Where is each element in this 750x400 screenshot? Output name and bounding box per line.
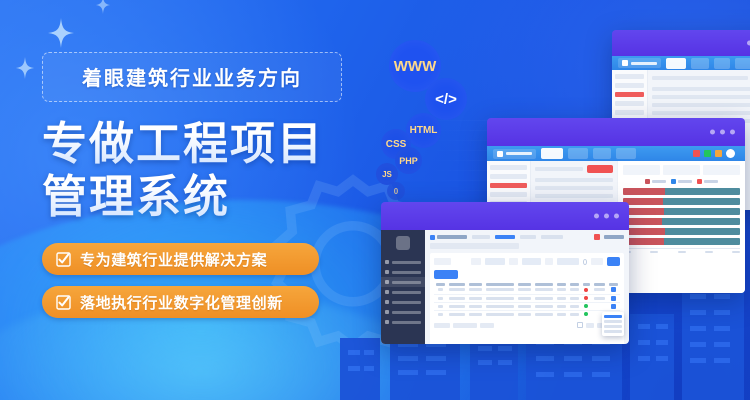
feature-badge-list: 专为建筑行业提供解决方案 落地执行行业数字化管理创新 <box>42 243 342 318</box>
table-row <box>652 87 750 91</box>
cell-checkbox <box>438 288 443 291</box>
table-row <box>652 111 750 115</box>
kpi-row <box>623 165 740 175</box>
header-actions <box>693 149 739 158</box>
search-field[interactable] <box>535 167 583 171</box>
bell-icon[interactable] <box>715 150 722 157</box>
table-row <box>535 186 613 190</box>
filter-label-4 <box>545 258 553 265</box>
filter-label-5 <box>591 258 603 265</box>
bubble-code: </> <box>425 78 467 120</box>
chart-axis-ticks <box>623 251 740 253</box>
kpi-card <box>703 165 740 175</box>
stacked-bar-chart <box>623 188 740 253</box>
page-number[interactable] <box>586 323 594 328</box>
search-field[interactable] <box>652 76 748 80</box>
row-action-icon[interactable] <box>611 287 616 292</box>
filter-select-2[interactable] <box>522 258 541 265</box>
sparkle-icon <box>48 18 74 48</box>
headline-line-2: 管理系统 <box>42 171 342 224</box>
add-button[interactable] <box>434 270 458 279</box>
sidebar <box>381 230 425 344</box>
subtitle-text: 着眼建筑行业业务方向 <box>57 62 327 91</box>
avatar[interactable] <box>726 149 735 158</box>
feature-badge-1-label: 专为建筑行业提供解决方案 <box>80 249 267 270</box>
tab-2[interactable] <box>568 148 588 159</box>
tab-1[interactable] <box>666 58 686 69</box>
app-logo <box>493 149 536 159</box>
app-body <box>381 230 629 344</box>
bubble-html: HTML <box>406 113 441 148</box>
menu-item-2 <box>604 320 622 323</box>
status-badge <box>584 288 588 292</box>
app-window-front[interactable] <box>381 202 629 344</box>
status-badge <box>584 296 588 300</box>
marketing-banner: 着眼建筑行业业务方向 专做工程项目 管理系统 专为建筑行业提供解决方案 <box>0 0 750 400</box>
window-dots <box>710 130 735 135</box>
filter-label-2 <box>471 258 481 265</box>
menu-item-4 <box>604 330 622 333</box>
menu-item-3 <box>604 325 622 328</box>
sidebar-item-4[interactable] <box>381 287 425 297</box>
chart-axis <box>623 248 740 249</box>
page-header <box>430 235 467 240</box>
page-prev-button[interactable] <box>577 322 583 328</box>
checkbox-check-icon <box>56 252 71 267</box>
legend-item <box>671 179 692 184</box>
data-table <box>434 283 620 318</box>
chart-bar <box>623 208 740 215</box>
list-item-active[interactable] <box>615 92 644 97</box>
app-header <box>487 146 745 161</box>
primary-button[interactable] <box>587 165 613 173</box>
legend-item <box>645 179 666 184</box>
feature-badge-1[interactable]: 专为建筑行业提供解决方案 <box>42 243 319 275</box>
user-menu[interactable] <box>604 235 624 239</box>
tab-1[interactable] <box>541 148 563 159</box>
tab-4[interactable] <box>616 148 636 159</box>
chart-bar <box>623 218 740 225</box>
page-info <box>480 323 494 328</box>
list-item[interactable] <box>615 101 644 106</box>
filter-select-1[interactable] <box>485 258 504 265</box>
page-title <box>437 235 467 239</box>
app-logo <box>618 58 661 68</box>
list-item[interactable] <box>615 74 644 79</box>
page-icon <box>430 235 435 240</box>
cell-checkbox <box>438 305 443 308</box>
search-button[interactable] <box>607 257 620 266</box>
sidebar-item-6[interactable] <box>381 307 425 317</box>
tab-3[interactable] <box>593 148 611 159</box>
sidebar-item-7[interactable] <box>381 317 425 327</box>
tab-3[interactable] <box>714 58 730 69</box>
app-logo-icon <box>396 236 410 250</box>
legend-item <box>697 179 718 184</box>
table-row <box>652 95 750 99</box>
page-size-select[interactable] <box>453 323 477 328</box>
filter-bar <box>434 257 620 266</box>
nav-link-3[interactable] <box>520 235 536 239</box>
headline-block: 着眼建筑行业业务方向 专做工程项目 管理系统 专为建筑行业提供解决方案 <box>42 52 342 329</box>
subtitle-box: 着眼建筑行业业务方向 <box>42 52 342 102</box>
status-badge <box>584 304 588 308</box>
list-item[interactable] <box>490 165 527 170</box>
sidebar-item-3-active[interactable] <box>381 277 425 287</box>
window-titlebar <box>612 30 750 56</box>
cell-checkbox <box>438 313 443 316</box>
cell-checkbox <box>438 297 443 300</box>
main-content <box>425 230 629 344</box>
list-item-active[interactable] <box>490 183 527 188</box>
kpi-card <box>623 165 660 175</box>
refresh-icon[interactable] <box>583 259 588 265</box>
window-titlebar <box>487 118 745 146</box>
table-row <box>434 286 620 294</box>
filter-input[interactable] <box>557 258 579 265</box>
list-item[interactable] <box>490 174 527 179</box>
page-title: 专做工程项目 管理系统 <box>42 118 342 223</box>
bubble-zero: 0 <box>387 182 405 200</box>
chart-legend <box>623 179 740 184</box>
message-icon[interactable] <box>704 150 711 157</box>
list-item[interactable] <box>490 192 527 197</box>
filter-label <box>434 258 451 265</box>
chart-panel <box>617 161 745 293</box>
nav-link-1[interactable] <box>472 235 490 239</box>
window-dots <box>594 214 619 219</box>
sidebar-item-2[interactable] <box>381 267 425 277</box>
chart-bar <box>623 198 740 205</box>
row-action-icon[interactable] <box>611 296 616 301</box>
breadcrumb <box>430 243 519 249</box>
table-row <box>535 194 613 198</box>
table-row <box>434 310 620 318</box>
filter-label-3 <box>509 258 518 265</box>
chart-bar <box>623 238 740 245</box>
status-badge <box>584 312 588 316</box>
sparkle-icon <box>16 57 34 79</box>
app-header <box>612 56 750 70</box>
tab-2[interactable] <box>691 58 709 69</box>
menu-item-1 <box>604 315 622 318</box>
row-action-icon[interactable] <box>611 304 616 309</box>
chart-bar <box>623 228 740 235</box>
feature-badge-2-label: 落地执行行业数字化管理创新 <box>80 292 283 313</box>
list-item[interactable] <box>615 110 644 115</box>
sparkle-icon <box>96 0 110 14</box>
chart-bar <box>623 188 740 195</box>
table-row <box>535 178 613 182</box>
window-titlebar <box>381 202 629 230</box>
nav-link-2-active[interactable] <box>495 235 515 239</box>
feature-badge-2[interactable]: 落地执行行业数字化管理创新 <box>42 286 319 318</box>
alert-icon[interactable] <box>693 150 700 157</box>
list-item[interactable] <box>615 83 644 88</box>
context-menu[interactable] <box>602 312 624 336</box>
page-summary <box>434 323 450 328</box>
bubble-php: PHP <box>395 147 422 174</box>
headline-line-1: 专做工程项目 <box>42 118 342 171</box>
sidebar-item-5[interactable] <box>381 297 425 307</box>
checkbox-check-icon <box>56 295 71 310</box>
tab-4[interactable] <box>735 58 750 69</box>
table-row <box>434 302 620 310</box>
pagination <box>434 322 620 328</box>
table-row <box>652 103 750 107</box>
table-row <box>434 294 620 302</box>
notification-icon[interactable] <box>594 234 600 240</box>
data-panel <box>430 253 624 344</box>
kpi-card <box>663 165 700 175</box>
nav-link-4[interactable] <box>541 235 563 239</box>
sidebar-item-1[interactable] <box>381 257 425 267</box>
